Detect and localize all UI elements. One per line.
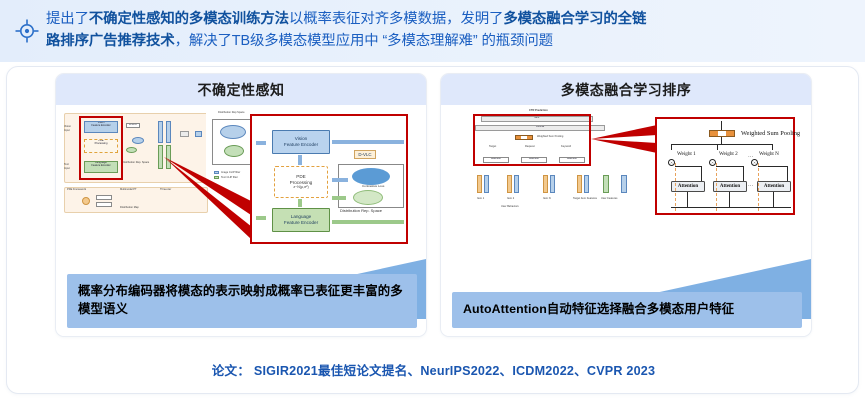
panel-uncertainty: 不确定性感知 Vision Input Text Input — [55, 73, 427, 337]
footer-text: SIGIR2021最佳短论文提名、NeurIPS2022、ICDM2022、CV… — [254, 364, 655, 378]
thumbnail-autoattention-network: CTR Prediction MLP Concat Weighted Sum P… — [455, 109, 635, 239]
weight-1-label: Weight 1 — [677, 151, 696, 157]
panel-title-fusion-ranking: 多模态融合学习排序 — [441, 74, 811, 105]
header-banner: 提出了不确定性感知的多模态训练方法以概率表征对齐多模数据，发明了多模态融合学习的… — [0, 0, 865, 62]
multiply-node-n: × — [751, 159, 758, 166]
content-card: 不确定性感知 Vision Input Text Input — [6, 66, 859, 394]
target-crosshair-icon — [14, 18, 40, 44]
header-statement: 提出了不确定性感知的多模态训练方法以概率表征对齐多模数据，发明了多模态融合学习的… — [46, 9, 855, 53]
weighted-sum-pooling-bar — [709, 130, 735, 137]
attention-box-n: Attention — [757, 181, 791, 192]
weighted-sum-pooling-label: Weighted Sum Pooling — [741, 130, 800, 137]
multiply-node-1: × — [668, 159, 675, 166]
caption-fusion-ranking: AutoAttention自动特征选择融合多模态用户特征 — [452, 292, 802, 328]
panel-row: 不确定性感知 Vision Input Text Input — [7, 73, 860, 343]
footer-label: 论文： — [212, 364, 250, 378]
footer-publications: 论文： SIGIR2021最佳短论文提名、NeurIPS2022、ICDM202… — [7, 360, 860, 379]
pde-processing-box: PDEProcessingz~N(μ,σ²) — [274, 166, 328, 198]
detail-box-uncertainty: VisionFeature Encoder PDEProcessingz~N(μ… — [250, 114, 408, 244]
attention-box-2: Attention — [713, 181, 747, 192]
weights-ellipsis: … — [748, 153, 753, 159]
attention-ellipsis: … — [748, 182, 753, 188]
thumbnail-highlight-box — [473, 114, 591, 166]
weight-n-label: Weight N — [759, 151, 779, 157]
panel-fusion-ranking: 多模态融合学习排序 CTR Prediction MLP Concat — [440, 73, 812, 337]
panel-title-uncertainty: 不确定性感知 — [56, 74, 426, 105]
attention-box-1: Attention — [671, 181, 705, 192]
weight-2-label: Weight 2 — [719, 151, 738, 157]
figure-uncertainty: Vision Input Text Input VisionFeature En… — [56, 105, 426, 260]
header-line-1: 提出了不确定性感知的多模态训练方法以概率表征对齐多模数据，发明了多模态融合学习的… — [46, 9, 855, 31]
detail-box-autoattention: Weighted Sum Pooling Weight 1 Weight 2 W… — [655, 117, 795, 215]
caption-uncertainty: 概率分布编码器将模态的表示映射成概率已表征更丰富的多模型语义 — [67, 274, 417, 328]
panel-body-fusion-ranking: CTR Prediction MLP Concat Weighted Sum P… — [441, 105, 811, 337]
header-line-2: 路排序广告推荐技术，解决了TB级多模态模型应用中 “多模态理解难” 的瓶颈问题 — [46, 31, 855, 53]
thumbnail-highlight-box — [79, 116, 123, 180]
vision-distribution-ellipse — [352, 168, 390, 185]
multiply-node-2: × — [709, 159, 716, 166]
language-feature-encoder-box: LanguageFeature Encoder — [272, 208, 330, 232]
figure-fusion-ranking: CTR Prediction MLP Concat Weighted Sum P… — [441, 105, 811, 260]
thumbnail-pde-framework: Vision Input Text Input VisionFeature En… — [62, 111, 212, 215]
language-distribution-ellipse — [353, 190, 383, 205]
vision-feature-encoder-box: VisionFeature Encoder — [272, 130, 330, 154]
panel-body-uncertainty: Vision Input Text Input VisionFeature En… — [56, 105, 426, 337]
d-vlc-box: D-VLC — [354, 150, 376, 159]
